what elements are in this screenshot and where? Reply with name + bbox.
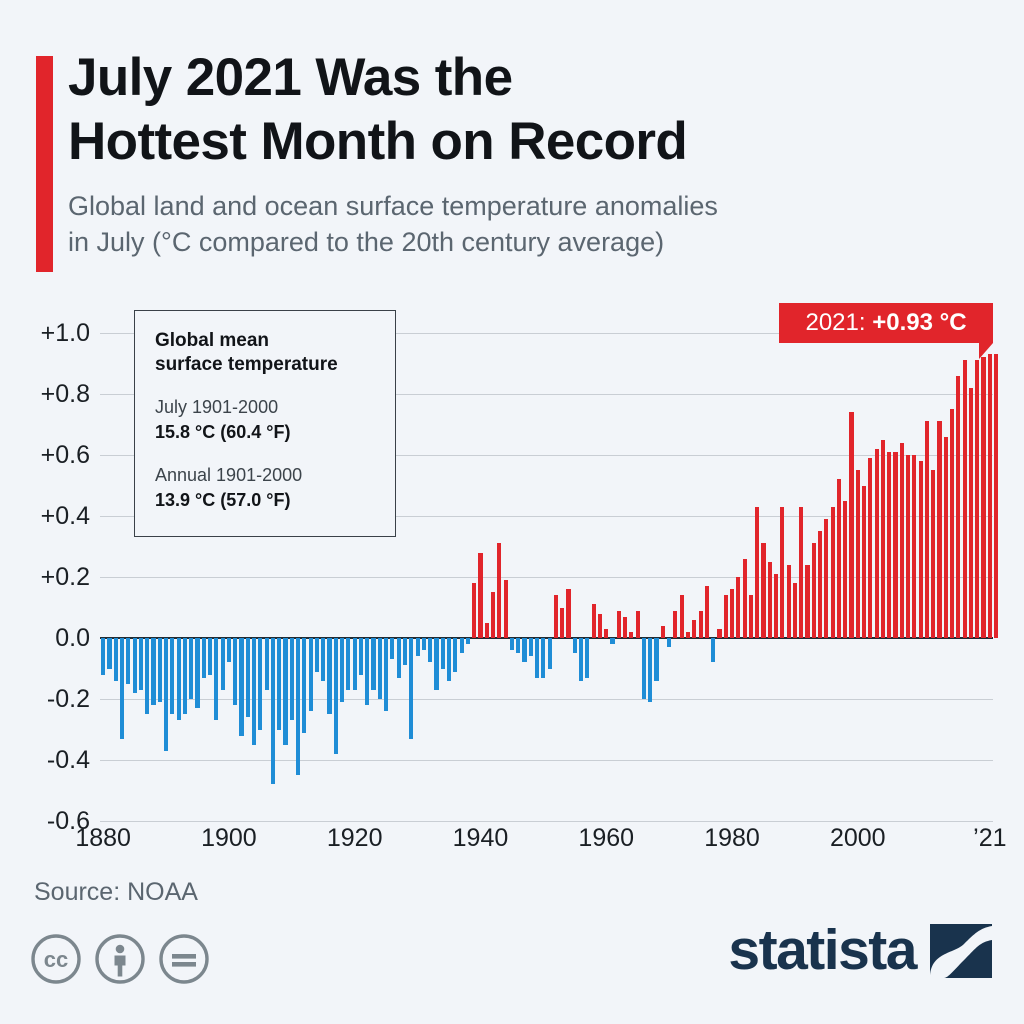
y-axis-tick-label: -0.2 <box>14 685 90 714</box>
bar-1976 <box>705 586 709 638</box>
y-axis-tick-label: -0.4 <box>14 746 90 775</box>
bar-1984 <box>755 507 759 638</box>
bar-1944 <box>504 580 508 638</box>
bar-1898 <box>214 638 218 720</box>
bar-2018 <box>969 388 973 638</box>
info-box-july-value: 15.8 °C (60.4 °F) <box>155 420 375 445</box>
bar-2008 <box>906 455 910 638</box>
bar-2005 <box>887 452 891 638</box>
bar-1997 <box>837 479 841 638</box>
bar-1900 <box>227 638 231 662</box>
bar-1911 <box>296 638 300 775</box>
x-axis-tick-label: 1960 <box>578 824 634 853</box>
bar-1968 <box>654 638 658 681</box>
bar-1977 <box>711 638 715 662</box>
gridline <box>100 760 993 761</box>
bar-1991 <box>799 507 803 638</box>
callout-text: 2021: +0.93 °C <box>779 303 993 343</box>
bar-1973 <box>686 632 690 638</box>
bar-1947 <box>522 638 526 662</box>
bar-1963 <box>623 617 627 638</box>
bar-1907 <box>271 638 275 784</box>
statista-logo-mark <box>930 924 992 978</box>
bar-1932 <box>428 638 432 662</box>
y-axis-tick-label: +0.8 <box>14 380 90 409</box>
bar-1943 <box>497 543 501 638</box>
bar-1992 <box>805 565 809 638</box>
bar-1937 <box>460 638 464 653</box>
bar-1978 <box>717 629 721 638</box>
bar-1970 <box>667 638 671 647</box>
bar-1954 <box>566 589 570 638</box>
info-box-annual-label: Annual 1901-2000 <box>155 463 375 488</box>
bar-1892 <box>177 638 181 720</box>
bar-1961 <box>610 638 614 644</box>
bar-1908 <box>277 638 281 730</box>
bar-undefined <box>994 354 998 638</box>
bar-1906 <box>265 638 269 690</box>
bar-2021 <box>988 354 992 638</box>
callout-pointer <box>979 343 993 359</box>
bar-1883 <box>120 638 124 739</box>
bar-1953 <box>560 608 564 639</box>
bar-1983 <box>749 595 753 638</box>
bar-1917 <box>334 638 338 754</box>
statista-logo: statista <box>728 922 992 979</box>
y-axis-tick-label: +1.0 <box>14 319 90 348</box>
bar-1981 <box>736 577 740 638</box>
bar-2004 <box>881 440 885 638</box>
cc-nd-equals-icon <box>158 933 210 985</box>
header: July 2021 Was the Hottest Month on Recor… <box>0 46 1024 286</box>
bar-1998 <box>843 501 847 638</box>
bar-1895 <box>195 638 199 708</box>
y-axis-tick-label: +0.6 <box>14 441 90 470</box>
bar-1915 <box>321 638 325 681</box>
bar-1962 <box>617 611 621 638</box>
infographic-page: July 2021 Was the Hottest Month on Recor… <box>0 0 1024 1024</box>
bar-1989 <box>787 565 791 638</box>
bar-1941 <box>485 623 489 638</box>
y-axis-tick-label: 0.0 <box>14 624 90 653</box>
cc-icon: cc <box>30 933 82 985</box>
bar-1980 <box>730 589 734 638</box>
bar-1909 <box>283 638 287 745</box>
page-subtitle: Global land and ocean surface temperatur… <box>68 188 998 260</box>
bar-1969 <box>661 626 665 638</box>
bar-1888 <box>151 638 155 705</box>
bar-1928 <box>403 638 407 665</box>
bar-1975 <box>699 611 703 638</box>
bar-2007 <box>900 443 904 638</box>
statista-wordmark: statista <box>728 922 916 979</box>
x-axis-labels: 1880190019201940196019802000’21 <box>0 824 1024 864</box>
bar-1925 <box>384 638 388 711</box>
bar-1993 <box>812 543 816 638</box>
bar-1985 <box>761 543 765 638</box>
bar-1949 <box>535 638 539 678</box>
bar-1946 <box>516 638 520 653</box>
bar-2017 <box>963 360 967 638</box>
bar-1912 <box>302 638 306 733</box>
bar-1889 <box>158 638 162 702</box>
x-axis-tick-label: 1940 <box>453 824 509 853</box>
callout-prefix: 2021: <box>805 309 872 336</box>
cc-by-person-icon <box>94 933 146 985</box>
bar-1958 <box>592 604 596 638</box>
info-box-july-label: July 1901-2000 <box>155 395 375 420</box>
source-label: Source: NOAA <box>34 878 198 907</box>
bar-1971 <box>673 611 677 638</box>
bar-1996 <box>831 507 835 638</box>
bar-1965 <box>636 611 640 638</box>
bar-1899 <box>221 638 225 690</box>
y-axis-tick-label: +0.2 <box>14 563 90 592</box>
x-axis-tick-label: 2000 <box>830 824 886 853</box>
bar-1940 <box>478 553 482 638</box>
bar-1903 <box>246 638 250 717</box>
bar-1921 <box>359 638 363 675</box>
bar-1885 <box>133 638 137 693</box>
bar-1916 <box>327 638 331 714</box>
x-axis-tick-label: 1900 <box>201 824 257 853</box>
bar-2009 <box>912 455 916 638</box>
bar-2020 <box>981 357 985 638</box>
bar-1890 <box>164 638 168 751</box>
bar-2000 <box>856 470 860 638</box>
bar-1994 <box>818 531 822 638</box>
info-box-heading-line-2: surface temperature <box>155 353 375 377</box>
bar-2001 <box>862 486 866 639</box>
gridline <box>100 821 993 822</box>
bar-1982 <box>743 559 747 638</box>
bar-1935 <box>447 638 451 681</box>
bar-2010 <box>919 461 923 638</box>
bar-1959 <box>598 614 602 638</box>
bar-1934 <box>441 638 445 669</box>
bar-1882 <box>114 638 118 681</box>
bar-1948 <box>529 638 533 656</box>
bar-1967 <box>648 638 652 702</box>
bar-2014 <box>944 437 948 638</box>
y-axis-tick-label: +0.4 <box>14 502 90 531</box>
svg-text:cc: cc <box>44 947 68 972</box>
bar-1987 <box>774 574 778 638</box>
bar-1957 <box>585 638 589 678</box>
bar-1995 <box>824 519 828 638</box>
bar-1886 <box>139 638 143 690</box>
info-box: Global mean surface temperature July 190… <box>134 310 396 537</box>
bar-2002 <box>868 458 872 638</box>
x-axis-tick-label: 1980 <box>704 824 760 853</box>
bar-1884 <box>126 638 130 684</box>
x-axis-tick-label: ’21 <box>973 824 1006 853</box>
bar-1927 <box>397 638 401 678</box>
x-axis-tick-label: 1880 <box>75 824 131 853</box>
bar-1913 <box>309 638 313 711</box>
footer: Source: NOAA cc statista <box>0 866 1024 1024</box>
bar-1966 <box>642 638 646 699</box>
bar-1918 <box>340 638 344 702</box>
bar-1904 <box>252 638 256 745</box>
bar-1999 <box>849 412 853 638</box>
bar-1974 <box>692 620 696 638</box>
info-box-heading-line-1: Global mean <box>155 329 375 353</box>
bar-1950 <box>541 638 545 678</box>
bar-1893 <box>183 638 187 714</box>
bar-1955 <box>573 638 577 653</box>
bar-1897 <box>208 638 212 675</box>
bar-1902 <box>239 638 243 736</box>
bar-1923 <box>371 638 375 690</box>
bar-1924 <box>378 638 382 699</box>
bar-1960 <box>604 629 608 638</box>
bar-1933 <box>434 638 438 690</box>
bar-1952 <box>554 595 558 638</box>
bar-1910 <box>290 638 294 720</box>
bar-1972 <box>680 595 684 638</box>
bar-1951 <box>548 638 552 669</box>
bar-1931 <box>422 638 426 650</box>
bar-1887 <box>145 638 149 714</box>
x-axis-tick-label: 1920 <box>327 824 383 853</box>
bar-1891 <box>170 638 174 714</box>
bar-1901 <box>233 638 237 705</box>
callout-2021-value: 2021: +0.93 °C <box>779 303 993 343</box>
bar-1896 <box>202 638 206 678</box>
title-line-1: July 2021 Was the <box>68 46 998 110</box>
page-title: July 2021 Was the Hottest Month on Recor… <box>68 46 998 260</box>
bar-1905 <box>258 638 262 730</box>
bar-1956 <box>579 638 583 681</box>
bar-1914 <box>315 638 319 672</box>
bar-2006 <box>893 452 897 638</box>
bar-1922 <box>365 638 369 705</box>
bar-1945 <box>510 638 514 650</box>
bar-2012 <box>931 470 935 638</box>
bar-1881 <box>107 638 111 669</box>
bar-2015 <box>950 409 954 638</box>
bar-1990 <box>793 583 797 638</box>
bar-1986 <box>768 562 772 638</box>
title-line-2: Hottest Month on Record <box>68 110 998 174</box>
subtitle-line-2: in July (°C compared to the 20th century… <box>68 224 998 260</box>
bar-1929 <box>409 638 413 739</box>
bar-1930 <box>416 638 420 656</box>
bar-1894 <box>189 638 193 699</box>
bar-1926 <box>390 638 394 659</box>
bar-2013 <box>937 421 941 638</box>
bar-1964 <box>629 632 633 638</box>
bar-2019 <box>975 360 979 638</box>
callout-value: +0.93 °C <box>872 309 966 336</box>
bar-1988 <box>780 507 784 638</box>
bar-1880 <box>101 638 105 675</box>
bar-1939 <box>472 583 476 638</box>
bar-1920 <box>353 638 357 690</box>
bar-1979 <box>724 595 728 638</box>
creative-commons-icons: cc <box>30 933 210 985</box>
title-accent-rule <box>36 56 53 272</box>
bar-1936 <box>453 638 457 672</box>
bar-1938 <box>466 638 470 644</box>
info-box-annual-value: 13.9 °C (57.0 °F) <box>155 488 375 513</box>
bar-1919 <box>346 638 350 690</box>
bar-2011 <box>925 421 929 638</box>
bar-2003 <box>875 449 879 638</box>
bar-1942 <box>491 592 495 638</box>
subtitle-line-1: Global land and ocean surface temperatur… <box>68 188 998 224</box>
bar-2016 <box>956 376 960 638</box>
